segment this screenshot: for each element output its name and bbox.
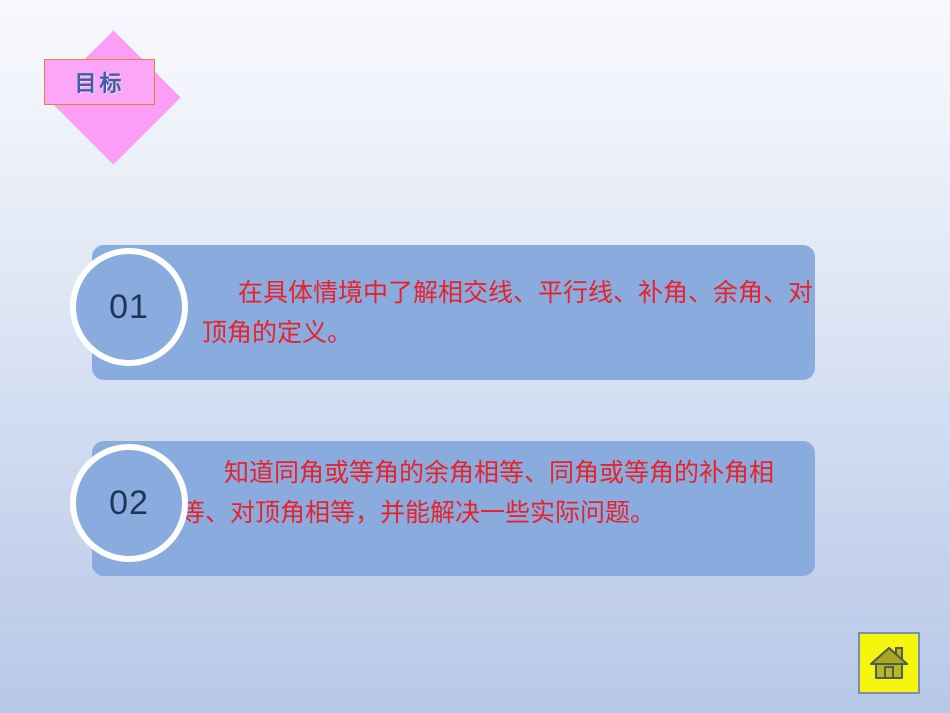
slide-canvas: 目标 在具体情境中了解相交线、平行线、补角、余角、对顶角的定义。 01 知道同角… bbox=[0, 0, 950, 713]
home-icon bbox=[868, 644, 910, 682]
objective-number-02: 02 bbox=[109, 484, 149, 523]
page-title: 目标 bbox=[44, 59, 155, 105]
objective-badge-01: 01 bbox=[70, 248, 188, 366]
objective-row-01: 在具体情境中了解相交线、平行线、补角、余角、对顶角的定义。 01 bbox=[92, 245, 815, 380]
home-button[interactable] bbox=[858, 632, 920, 694]
objective-text-02: 知道同角或等角的余角相等、同角或等角的补角相等、对顶角相等，并能解决一些实际问题… bbox=[180, 453, 820, 533]
objective-row-02: 知道同角或等角的余角相等、同角或等角的补角相等、对顶角相等，并能解决一些实际问题… bbox=[92, 441, 815, 576]
objective-text-01: 在具体情境中了解相交线、平行线、补角、余角、对顶角的定义。 bbox=[202, 273, 822, 353]
objective-number-01: 01 bbox=[109, 288, 149, 327]
title-badge: 目标 bbox=[33, 25, 167, 159]
objective-badge-02: 02 bbox=[70, 444, 188, 562]
